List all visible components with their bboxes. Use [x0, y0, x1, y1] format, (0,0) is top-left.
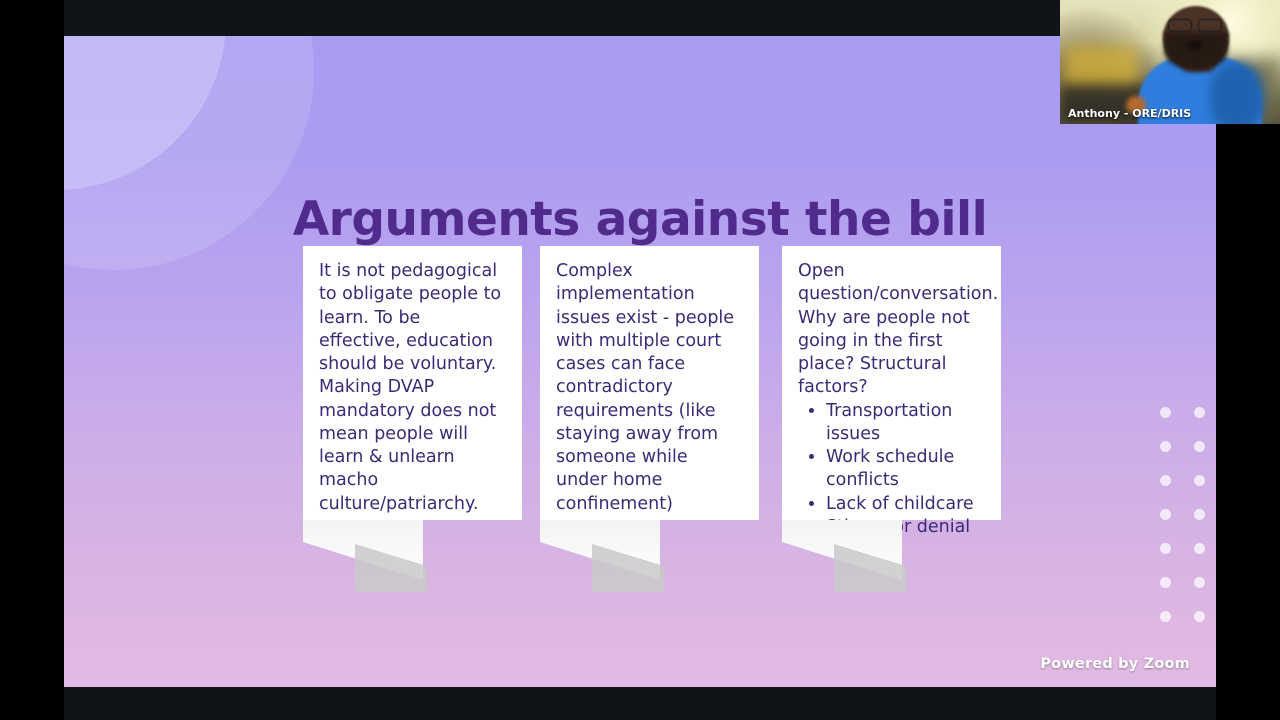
share-letterbox-top [64, 0, 1216, 36]
presentation-slide: Arguments against the bill It is not ped… [64, 36, 1216, 687]
argument-card-1: It is not pedagogical to obligate people… [303, 246, 522, 520]
powered-by-zoom-watermark: Powered by Zoom [1040, 656, 1190, 672]
decorative-circle-inner [64, 36, 226, 190]
participant-video-tile[interactable]: Anthony - ORE/DRIS [1060, 0, 1280, 124]
argument-card-2-ribbon [540, 520, 759, 592]
argument-card-2-body: Complex implementation issues exist - pe… [556, 260, 743, 516]
decorative-dot-grid [1149, 396, 1216, 634]
participant-video-feed [1060, 0, 1280, 124]
argument-card-3: Open question/conversation. Why are peop… [782, 246, 1001, 520]
argument-card-3-body: Open question/conversation. Why are peop… [798, 260, 985, 400]
argument-card-3-bullet-3: Lack of childcare [826, 493, 985, 516]
argument-card-3-bullet-2: Work schedule conflicts [826, 446, 985, 493]
share-letterbox-bottom [64, 687, 1216, 720]
argument-card-2: Complex implementation issues exist - pe… [540, 246, 759, 520]
argument-card-3-bullet-4: Stigma or denial [826, 516, 985, 539]
argument-card-3-bullet-1: Transportation issues [826, 400, 985, 447]
argument-card-3-bullet-list: Transportation issuesWork schedule confl… [798, 400, 985, 540]
argument-card-1-body: It is not pedagogical to obligate people… [319, 260, 506, 516]
participant-name-label: Anthony - ORE/DRIS [1068, 107, 1191, 120]
slide-title: Arguments against the bill [64, 192, 1216, 247]
argument-card-1-ribbon [303, 520, 522, 592]
zoom-share-viewport: Arguments against the bill It is not ped… [0, 0, 1280, 720]
